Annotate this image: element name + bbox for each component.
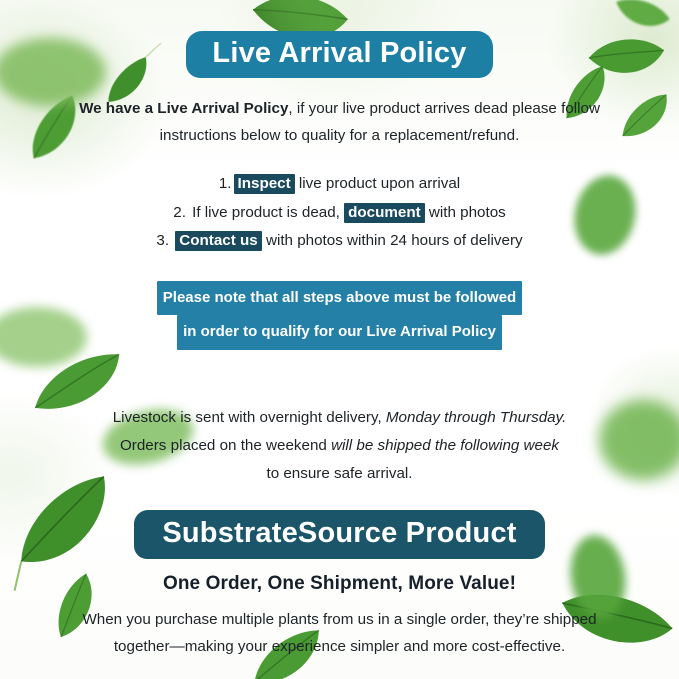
policy-notice-line-1: Please note that all steps above must be… — [157, 281, 522, 315]
step-number: 3. — [156, 232, 169, 249]
step-number: 1. — [219, 175, 232, 192]
product-body-paragraph: When you purchase multiple plants from u… — [80, 606, 600, 661]
step-text-after: with photos within 24 hours of delivery — [262, 232, 523, 249]
step-text-before: If live product is dead, — [188, 204, 344, 221]
step-highlight-document: document — [344, 203, 425, 223]
step-highlight-inspect: Inspect — [234, 174, 295, 194]
shipping-line3-text: to ensure safe arrival. — [266, 465, 412, 482]
step-number: 2. — [173, 204, 186, 221]
shipping-line1-text: Livestock is sent with overnight deliver… — [113, 409, 386, 426]
policy-notice-block: Please note that all steps above must be… — [157, 281, 522, 350]
shipping-line2-emphasis: will be shipped the following week — [331, 437, 559, 454]
live-arrival-policy-poster: Live Arrival Policy We have a Live Arriv… — [0, 0, 679, 679]
product-body-line1: When you purchase multiple plants from u… — [82, 611, 596, 628]
product-subheading: One Order, One Shipment, More Value! — [163, 573, 516, 595]
live-arrival-policy-banner: Live Arrival Policy — [186, 31, 492, 78]
poster-content: Live Arrival Policy We have a Live Arriv… — [0, 0, 679, 679]
policy-intro-rest: , if your live product arrives dead plea… — [288, 100, 600, 117]
policy-intro-line2: instructions below to quality for a repl… — [160, 127, 520, 144]
product-body-line2: together—making your experience simpler … — [114, 638, 565, 655]
shipping-line2-text: Orders placed on the weekend — [120, 437, 331, 454]
policy-intro-paragraph: We have a Live Arrival Policy, if your l… — [75, 95, 605, 149]
step-text-after: live product upon arrival — [295, 175, 460, 192]
substratesource-product-banner: SubstrateSource Product — [134, 510, 544, 559]
list-item: 2. If live product is dead, document wit… — [60, 199, 620, 227]
policy-notice-line-2: in order to qualify for our Live Arrival… — [177, 315, 502, 349]
list-item: 1.Inspect live product upon arrival — [60, 170, 620, 198]
step-highlight-contact-us: Contact us — [175, 231, 261, 251]
shipping-schedule-paragraph: Livestock is sent with overnight deliver… — [85, 404, 595, 488]
policy-steps-list: 1.Inspect live product upon arrival 2. I… — [60, 170, 620, 255]
shipping-line1-emphasis: Monday through Thursday. — [386, 409, 566, 426]
step-text-after: with photos — [425, 204, 506, 221]
list-item: 3. Contact us with photos within 24 hour… — [60, 227, 620, 255]
policy-intro-lead: We have a Live Arrival Policy — [79, 100, 288, 117]
